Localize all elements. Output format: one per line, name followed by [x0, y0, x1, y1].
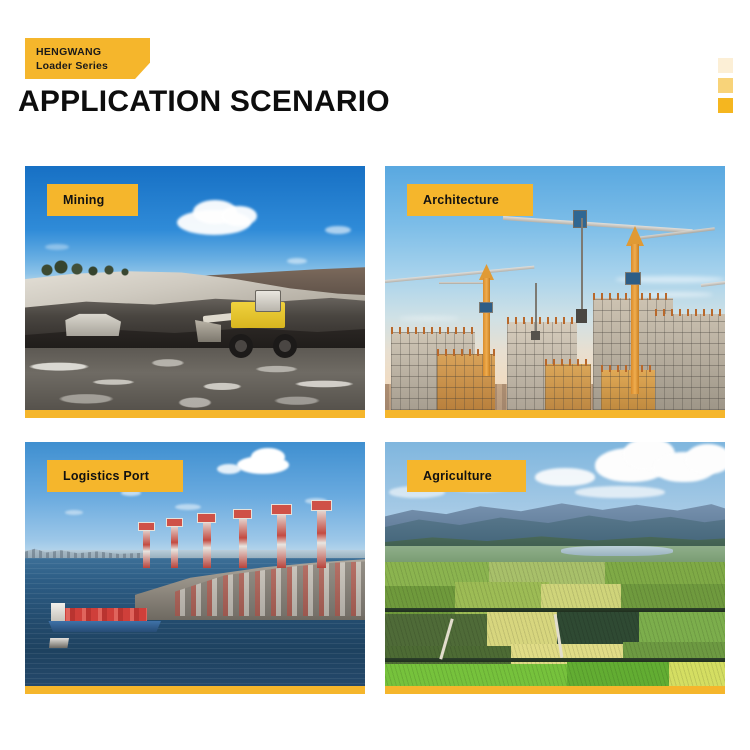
river-lake — [561, 546, 673, 556]
crane-hoist-line — [535, 283, 537, 333]
crane-jib — [385, 266, 534, 283]
crane-operator-cab — [479, 302, 493, 313]
crop-field — [385, 614, 495, 648]
crane-trolley — [573, 210, 587, 228]
hedgerow — [385, 658, 725, 662]
crop-field — [489, 562, 609, 584]
crane-hook-block — [531, 331, 540, 340]
cloud-shape — [175, 504, 201, 510]
mining-rubble-ground — [25, 348, 365, 410]
gantry-crane-head — [138, 522, 155, 531]
scenario-card-mining[interactable]: Mining — [25, 166, 365, 418]
scenario-card-architecture[interactable]: Architecture — [385, 166, 725, 418]
scenario-card-logistics-port[interactable]: Logistics Port — [25, 442, 365, 694]
gantry-crane — [317, 508, 326, 568]
decorative-square-medium — [718, 78, 733, 93]
cloud-shape — [685, 444, 725, 474]
crop-field — [669, 660, 725, 686]
tower-crane — [563, 204, 725, 394]
gantry-crane — [171, 524, 178, 568]
gantry-crane — [239, 516, 247, 568]
loader-bucket — [195, 320, 221, 342]
wheel-loader — [197, 294, 313, 358]
card-accent-bar — [385, 686, 725, 694]
crop-field — [385, 664, 575, 686]
gantry-crane-head — [166, 518, 183, 527]
page-header: HENGWANG Loader Series APPLICATION SCENA… — [0, 0, 750, 150]
scenario-card-grid: Mining — [25, 166, 725, 726]
card-accent-bar — [385, 410, 725, 418]
loader-wheel — [229, 334, 253, 358]
card-accent-bar — [25, 410, 365, 418]
crane-counter-jib — [439, 282, 485, 284]
ship-hull — [45, 621, 161, 632]
decorative-squares — [718, 58, 733, 113]
brand-name: HENGWANG — [36, 45, 108, 59]
application-scenario-page: HENGWANG Loader Series APPLICATION SCENA… — [0, 0, 750, 750]
farm-field-patchwork — [385, 562, 725, 686]
decorative-square-light — [718, 58, 733, 73]
brand-series: Loader Series — [36, 59, 108, 73]
hedgerow — [385, 608, 725, 612]
crop-field — [557, 610, 647, 646]
cloud-shape — [575, 486, 665, 498]
gantry-crane-head — [233, 509, 252, 519]
gantry-crane — [143, 528, 150, 568]
cloud-shape — [287, 258, 307, 264]
crane-hook-block — [576, 309, 587, 323]
crop-field — [605, 562, 725, 586]
decorative-square-solid — [718, 98, 733, 113]
ship-containers — [59, 608, 147, 622]
card-label-mining: Mining — [47, 184, 138, 216]
gantry-crane-head — [311, 500, 332, 511]
cloud-shape — [217, 464, 241, 474]
cloud-shape — [221, 206, 257, 226]
crane-hoist-line — [581, 218, 583, 310]
tug-boat — [49, 638, 69, 648]
page-title: APPLICATION SCENARIO — [18, 84, 390, 120]
card-label-agriculture: Agriculture — [407, 460, 526, 492]
crane-mast — [483, 278, 490, 376]
gantry-crane-head — [197, 513, 216, 523]
crane-jib — [503, 216, 693, 233]
cloud-shape — [65, 510, 83, 515]
crop-field — [639, 610, 725, 644]
loader-cab — [255, 290, 281, 312]
cloud-shape — [325, 226, 351, 234]
brand-badge: HENGWANG Loader Series — [25, 38, 150, 79]
cloud-shape — [45, 244, 69, 250]
tower-crane — [715, 262, 725, 382]
tree-line — [39, 258, 135, 276]
ship-bridge — [51, 603, 65, 621]
cloud-shape — [535, 468, 595, 486]
cloud-shape — [251, 448, 285, 466]
crane-mast — [631, 244, 639, 394]
card-label-logistics-port: Logistics Port — [47, 460, 183, 492]
card-label-architecture: Architecture — [407, 184, 533, 216]
gantry-crane — [203, 520, 211, 568]
crane-operator-cab — [625, 272, 641, 285]
loader-wheel — [273, 334, 297, 358]
gantry-crane-head — [271, 504, 292, 515]
card-accent-bar — [25, 686, 365, 694]
gantry-crane — [277, 512, 286, 568]
container-ship — [45, 606, 161, 632]
scenario-card-agriculture[interactable]: Agriculture — [385, 442, 725, 694]
crop-field — [567, 662, 677, 686]
